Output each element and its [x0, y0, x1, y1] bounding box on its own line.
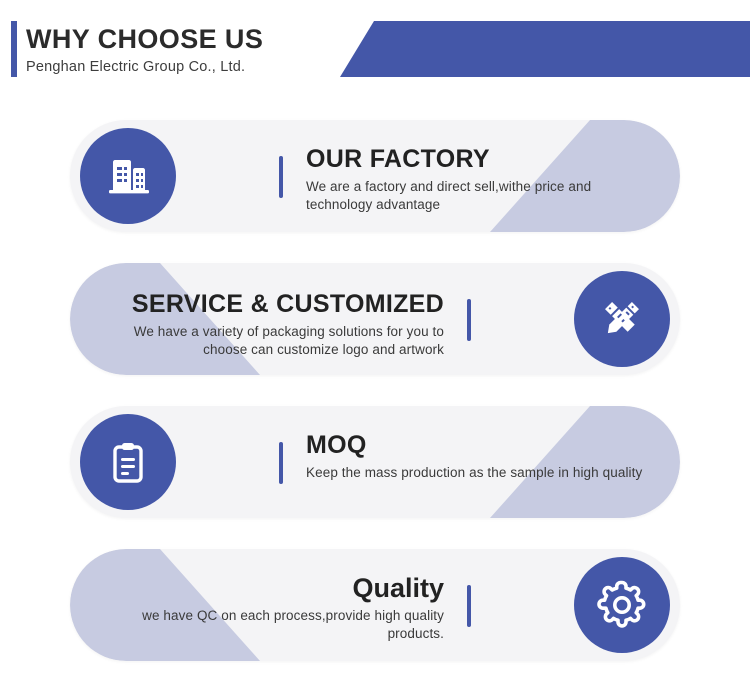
feature-card-our-factory[interactable]: OUR FACTORY We are a factory and direct … — [70, 120, 680, 232]
page-title: WHY CHOOSE US — [26, 22, 263, 56]
card-title: Quality — [92, 573, 444, 604]
card-divider — [279, 156, 283, 198]
card-text-group: SERVICE & CUSTOMIZED We have a variety o… — [92, 289, 444, 359]
clipboard-icon — [80, 414, 176, 510]
pencil-ruler-icon — [574, 271, 670, 367]
header-accent-bar — [11, 21, 17, 77]
feature-card-moq[interactable]: MOQ Keep the mass production as the samp… — [70, 406, 680, 518]
gear-icon — [574, 557, 670, 653]
card-text-group: MOQ Keep the mass production as the samp… — [306, 430, 656, 482]
card-title: OUR FACTORY — [306, 144, 656, 175]
card-text-group: Quality we have QC on each process,provi… — [92, 573, 444, 643]
card-text-group: OUR FACTORY We are a factory and direct … — [306, 144, 656, 214]
card-title: MOQ — [306, 430, 656, 461]
why-choose-us-page: WHY CHOOSE US Penghan Electric Group Co.… — [0, 0, 750, 696]
card-description: We have a variety of packaging solutions… — [92, 323, 444, 359]
card-divider — [467, 585, 471, 627]
header-banner-shape — [340, 21, 750, 77]
card-title: SERVICE & CUSTOMIZED — [92, 289, 444, 320]
feature-card-quality[interactable]: Quality we have QC on each process,provi… — [70, 549, 680, 661]
card-description: Keep the mass production as the sample i… — [306, 464, 656, 482]
header-text-group: WHY CHOOSE US Penghan Electric Group Co.… — [26, 22, 263, 77]
feature-card-service-customized[interactable]: SERVICE & CUSTOMIZED We have a variety o… — [70, 263, 680, 375]
card-divider — [279, 442, 283, 484]
card-description: we have QC on each process,provide high … — [92, 607, 444, 643]
factory-building-icon — [80, 128, 176, 224]
card-divider — [467, 299, 471, 341]
company-name: Penghan Electric Group Co., Ltd. — [26, 57, 263, 77]
page-header: WHY CHOOSE US Penghan Electric Group Co.… — [0, 0, 750, 100]
card-description: We are a factory and direct sell,withe p… — [306, 178, 656, 214]
